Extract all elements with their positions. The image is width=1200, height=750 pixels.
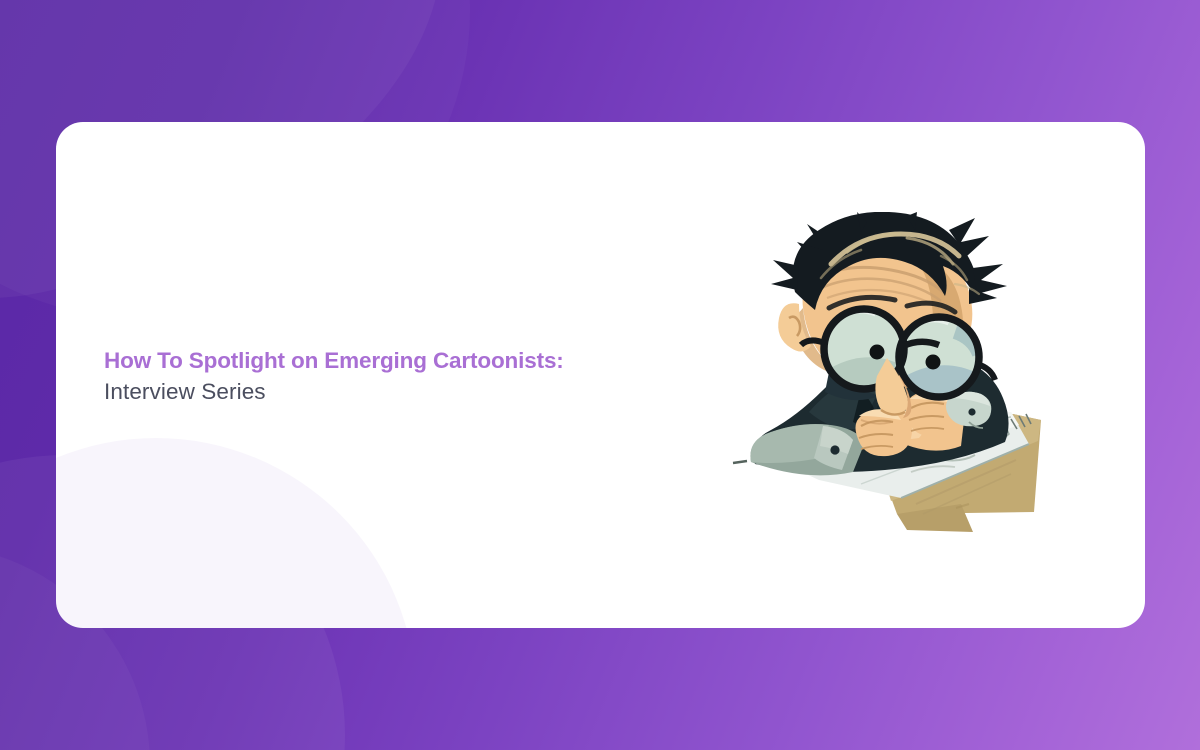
page-title-subtitle: Interview Series — [104, 379, 266, 404]
page-background: How To Spotlight on Emerging Cartoonists… — [0, 0, 1200, 750]
card-corner-tint — [56, 438, 416, 628]
page-title-emphasis: How To Spotlight on Emerging Cartoonists… — [104, 348, 564, 373]
page-title: How To Spotlight on Emerging Cartoonists… — [104, 346, 574, 407]
content-card: How To Spotlight on Emerging Cartoonists… — [56, 122, 1145, 628]
cartoonist-illustration — [711, 212, 1071, 542]
